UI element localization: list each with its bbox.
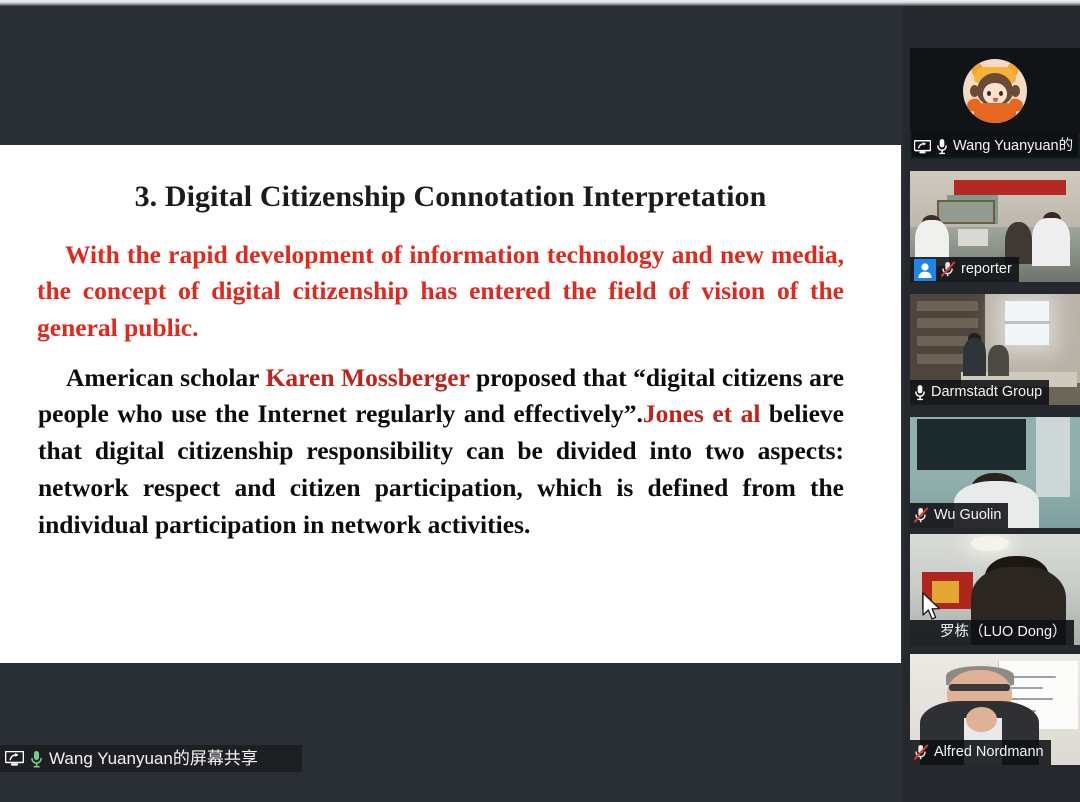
participant-avatar-area [910,48,1080,134]
participant-tile-wang-yuanyuan[interactable]: Wang Yuanyuan的 [910,48,1080,159]
person-icon [914,259,936,281]
participant-filmstrip[interactable]: Wang Yuanyuan的 [903,6,1080,802]
presentation-slide: 3. Digital Citizenship Connotation Inter… [0,145,901,663]
slide-paragraph-red: With the rapid development of informatio… [0,217,901,347]
participant-label: reporter [910,257,1019,282]
participant-label: Darmstadt Group [910,380,1049,405]
participant-tile-luo-dong[interactable]: 罗栋（LUO Dong） [910,534,1080,645]
microphone-muted-icon [941,261,956,278]
microphone-icon [914,384,926,401]
participant-name: reporter [961,262,1012,277]
slide-title: 3. Digital Citizenship Connotation Inter… [0,145,901,217]
participant-name: Wang Yuanyuan的 [953,139,1073,154]
microphone-muted-icon [914,744,929,761]
paragraph-highlight-jones-et-al: Jones et al [643,399,761,428]
participant-label: 罗栋（LUO Dong） [910,620,1074,645]
microphone-icon [936,138,948,155]
microphone-icon [30,750,43,768]
participant-label: Wang Yuanyuan的 [910,134,1080,159]
avatar [963,59,1027,123]
participant-name: Alfred Nordmann [934,745,1044,760]
participant-name: Wu Guolin [934,508,1001,523]
participant-label: Alfred Nordmann [910,740,1051,765]
participant-name: Darmstadt Group [931,385,1042,400]
screen-share-icon [5,751,24,766]
paragraph-highlight-karen-mossberger: Karen Mossberger [266,363,470,392]
microphone-muted-icon [914,507,929,524]
participant-tile-wu-guolin[interactable]: Wu Guolin [910,417,1080,528]
shared-screen-stage: 3. Digital Citizenship Connotation Inter… [0,6,903,772]
participant-tile-reporter[interactable]: reporter [910,171,1080,282]
participant-label: Wu Guolin [910,503,1008,528]
slide-paragraph-black: American scholar Karen Mossberger propos… [0,347,901,544]
participant-name: 罗栋（LUO Dong） [914,625,1067,640]
screen-share-status-banner: Wang Yuanyuan的屏幕共享 [0,745,302,772]
screen-share-icon [914,140,931,154]
paragraph-text-part1: American scholar [66,363,266,392]
participant-tile-darmstadt-group[interactable]: Darmstadt Group [910,294,1080,405]
share-banner-label: Wang Yuanyuan的屏幕共享 [49,750,258,767]
participant-tile-alfred-nordmann[interactable]: Alfred Nordmann [910,654,1080,765]
